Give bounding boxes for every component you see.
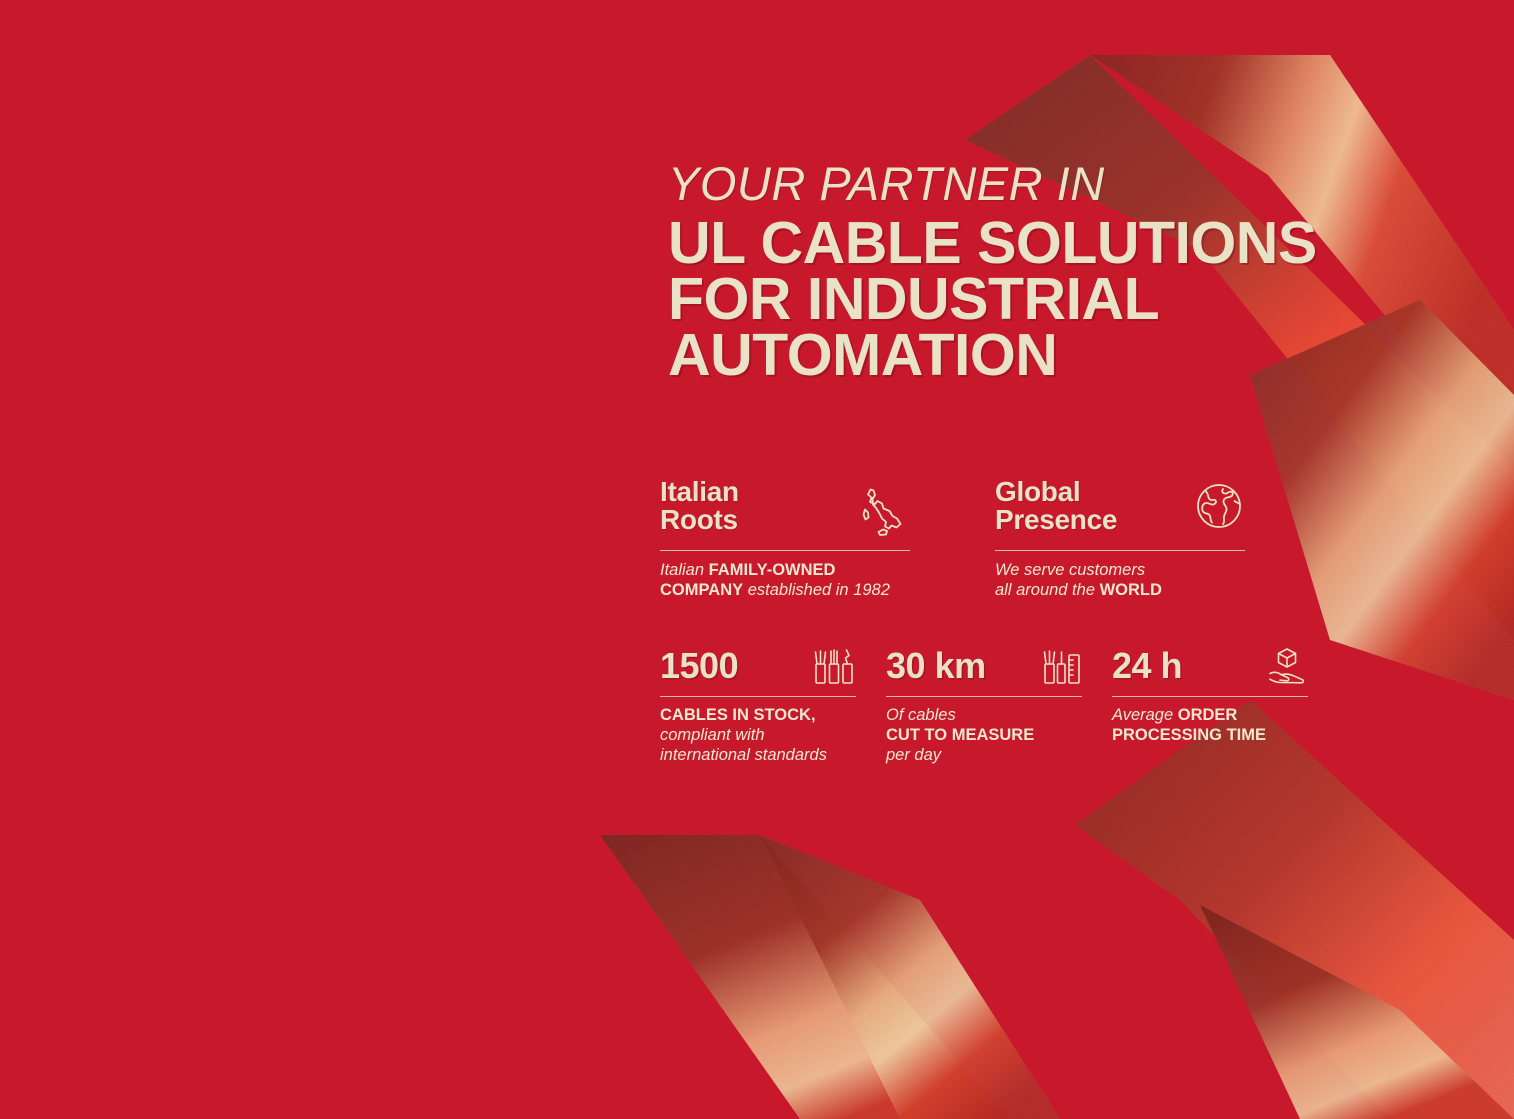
feature-description: Italian FAMILY-OWNED COMPANY established… <box>660 560 910 600</box>
poster-canvas: YOUR PARTNER IN UL CABLE SOLUTIONS FOR I… <box>0 0 1514 1119</box>
headline-block: YOUR PARTNER IN UL CABLE SOLUTIONS FOR I… <box>668 160 1368 383</box>
feature-title-line-2: Presence <box>995 506 1117 534</box>
stat-desc-line-1: Average <box>1112 706 1178 724</box>
stat-desc-line-2: CUT TO MEASURE <box>886 726 1034 744</box>
feature-desc-part-4: established in 1982 <box>743 581 890 599</box>
feature-desc-part-2: all around the <box>995 581 1100 599</box>
stat-desc-line-1: CABLES IN STOCK, <box>660 706 816 724</box>
stats-group: 1500 CABLES IN STOCK, compliant with <box>660 645 1308 765</box>
stat-desc-line-3: per day <box>886 746 941 764</box>
feature-desc-part-3: COMPANY <box>660 581 743 599</box>
feature-description: We serve customers all around the WORLD <box>995 560 1245 600</box>
stat-header: 1500 <box>660 645 856 687</box>
stat-divider <box>1112 696 1308 697</box>
stat-desc-line-3: international standards <box>660 746 827 764</box>
cables-icon <box>812 646 856 686</box>
feature-title: Global Presence <box>995 478 1117 534</box>
globe-icon <box>1193 480 1245 532</box>
stat-divider <box>660 696 856 697</box>
feature-divider <box>995 550 1245 551</box>
stat-divider <box>886 696 1082 697</box>
page-title: UL CABLE SOLUTIONS FOR INDUSTRIAL AUTOMA… <box>668 215 1368 383</box>
stat-value: 24 h <box>1112 648 1182 684</box>
stat-card-order-processing-time: 24 h Average ORDER PROCESSING TIME <box>1112 645 1308 765</box>
feature-card-italian-roots: Italian Roots Italian FAMILY-OWNED COMPA… <box>660 478 910 600</box>
feature-block-group: Italian Roots Italian FAMILY-OWNED COMPA… <box>660 478 1245 600</box>
feature-title-line-1: Global <box>995 478 1117 506</box>
hand-package-icon <box>1266 646 1308 686</box>
stat-card-cut-to-measure: 30 km Of cables CUT TO MEASURE per da <box>886 645 1082 765</box>
feature-card-global-presence: Global Presence We serve customers all a… <box>995 478 1245 600</box>
feature-header: Italian Roots <box>660 478 910 540</box>
stat-description: Average ORDER PROCESSING TIME <box>1112 705 1308 745</box>
feature-desc-part-1: We serve customers <box>995 561 1145 579</box>
feature-desc-part-1: Italian <box>660 561 709 579</box>
feature-title-line-2: Roots <box>660 506 739 534</box>
stat-desc-line-2: PROCESSING TIME <box>1112 726 1266 744</box>
feature-desc-part-3: WORLD <box>1100 581 1162 599</box>
stat-desc-line-2: compliant with <box>660 726 765 744</box>
stat-desc-line-1-bold: ORDER <box>1178 706 1238 724</box>
stat-card-cables-in-stock: 1500 CABLES IN STOCK, compliant with <box>660 645 856 765</box>
stat-value: 1500 <box>660 648 738 684</box>
feature-title-line-1: Italian <box>660 478 739 506</box>
feature-title: Italian Roots <box>660 478 739 534</box>
headline-line-3: AUTOMATION <box>668 327 1368 383</box>
stat-header: 24 h <box>1112 645 1308 687</box>
feature-desc-part-2: FAMILY-OWNED <box>709 561 836 579</box>
stat-value: 30 km <box>886 648 986 684</box>
stat-header: 30 km <box>886 645 1082 687</box>
stat-description: CABLES IN STOCK, compliant with internat… <box>660 705 856 765</box>
eyebrow-text: YOUR PARTNER IN <box>668 160 1368 207</box>
stat-desc-line-1: Of cables <box>886 706 956 724</box>
stat-description: Of cables CUT TO MEASURE per day <box>886 705 1082 765</box>
italy-map-icon <box>856 480 910 536</box>
headline-line-2: FOR INDUSTRIAL <box>668 271 1368 327</box>
headline-line-1: UL CABLE SOLUTIONS <box>668 215 1368 271</box>
feature-header: Global Presence <box>995 478 1245 540</box>
feature-divider <box>660 550 910 551</box>
cable-ruler-icon <box>1042 646 1082 686</box>
